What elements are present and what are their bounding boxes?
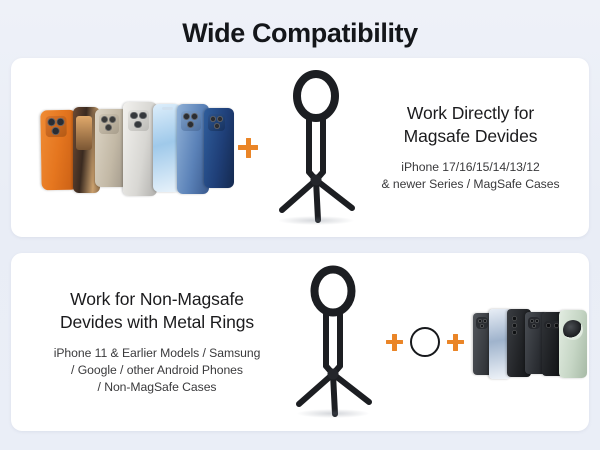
phone-android-sage-green <box>559 310 587 378</box>
card-top-row: Work Directly for Magsafe Devides iPhone… <box>11 58 589 237</box>
compatibility-infographic: Wide Compatibility <box>0 0 600 450</box>
card-top-headline: Work Directly for Magsafe Devides <box>364 102 577 148</box>
card-top-text: Work Directly for Magsafe Devides iPhone… <box>364 102 589 193</box>
card-bottom-row: Work for Non-Magsafe Devides with Metal … <box>11 253 589 431</box>
card-top-subline: iPhone 17/16/15/14/13/12 & newer Series … <box>364 159 577 193</box>
card-non-magsafe: Work for Non-Magsafe Devides with Metal … <box>11 253 589 431</box>
camera-module <box>99 114 119 134</box>
camera-module <box>181 111 201 131</box>
card-magsafe-direct: Work Directly for Magsafe Devides iPhone… <box>11 58 589 237</box>
card-bottom-text: Work for Non-Magsafe Devides with Metal … <box>11 288 293 396</box>
camera-module <box>476 317 488 329</box>
camera-module <box>45 115 66 136</box>
camera-module <box>208 114 225 131</box>
phone-iphone-white-titanium <box>123 102 157 196</box>
magnetic-ring-tripod-stand <box>268 68 364 228</box>
metal-ring-accessory <box>410 327 440 357</box>
card-bottom-headline: Work for Non-Magsafe Devides with Metal … <box>21 288 293 334</box>
card-bottom-subline: iPhone 11 & Earlier Models / Samsung / G… <box>21 345 293 396</box>
phone-iphone-navy-blue <box>204 108 234 188</box>
plus-operator-icon <box>238 138 258 158</box>
round-camera-module <box>563 320 583 340</box>
stand-shadow <box>279 216 354 225</box>
stand-shadow <box>297 409 369 418</box>
camera-module <box>76 116 92 150</box>
iphone-magsafe-lineup <box>27 94 232 202</box>
page-title: Wide Compatibility <box>0 18 600 49</box>
camera-module <box>128 110 149 131</box>
magnetic-ring-tripod-stand <box>287 263 379 421</box>
plus-operator-icon-left <box>386 334 403 351</box>
camera-module <box>528 317 540 329</box>
plus-operator-icon-right <box>447 334 464 351</box>
screen-notch <box>162 107 173 111</box>
android-phone-lineup <box>471 305 589 383</box>
